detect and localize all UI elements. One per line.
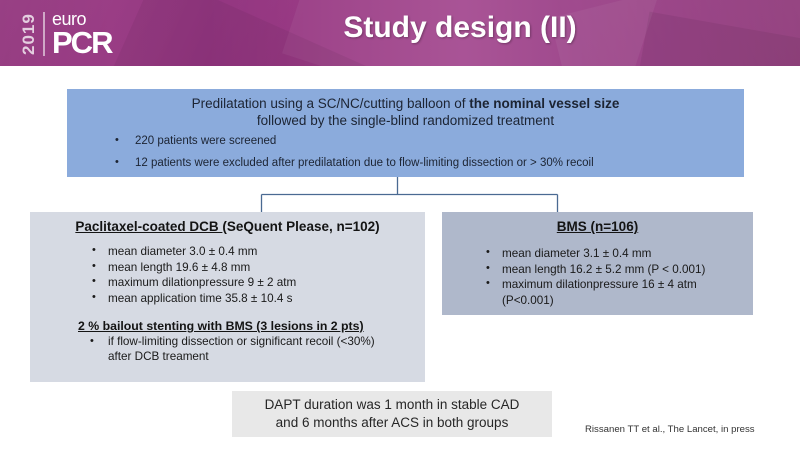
bms-arm-title: BMS (n=106): [442, 212, 753, 234]
dcb-bailout-bullet-line2: after DCB treament: [108, 350, 425, 365]
list-item: mean length 19.6 ± 4.8 mm: [90, 260, 425, 276]
dcb-arm-box: Paclitaxel-coated DCB (SeQuent Please, n…: [30, 212, 425, 382]
connector-path: [262, 177, 558, 212]
page-title: Study design (II): [140, 11, 780, 45]
predilatation-bullet-list: 220 patients were screened 12 patients w…: [67, 135, 744, 179]
dcb-bailout-bullet-list: if flow-limiting dissection or significa…: [72, 335, 425, 364]
dcb-arm-bullet-list: mean diameter 3.0 ± 0.4 mm mean length 1…: [30, 244, 425, 306]
logo-pcr-text: PCR: [52, 27, 111, 58]
dcb-arm-title-rest: (SeQuent Please, n=102): [222, 219, 379, 234]
dapt-line1: DAPT duration was 1 month in stable CAD: [265, 397, 520, 412]
list-item: 12 patients were excluded after predilat…: [113, 157, 744, 179]
list-item: maximum dilationpressure 9 ± 2 atm: [90, 275, 425, 291]
list-item: if flow-limiting dissection or significa…: [90, 335, 425, 364]
predilatation-headline-plain: Predilatation using a SC/NC/cutting ball…: [192, 96, 470, 111]
dcb-bailout-title: 2 % bailout stenting with BMS (3 lesions…: [72, 319, 425, 333]
bms-arm-box: BMS (n=106) mean diameter 3.1 ± 0.4 mm m…: [442, 212, 753, 315]
dapt-duration-box: DAPT duration was 1 month in stable CAD …: [232, 391, 552, 437]
list-item: mean application time 35.8 ± 10.4 s: [90, 291, 425, 307]
bms-arm-title-underlined: BMS (n=106): [557, 219, 638, 234]
logo-wordmark: euro PCR: [52, 10, 111, 58]
dcb-arm-title-underlined: Paclitaxel-coated DCB: [75, 219, 222, 234]
predilatation-headline-line2: followed by the single-blind randomized …: [257, 113, 554, 128]
list-item: 220 patients were screened: [113, 135, 744, 157]
logo-divider: [43, 12, 45, 56]
dcb-bailout-bullet-line1: if flow-limiting dissection or significa…: [108, 335, 375, 348]
dcb-arm-title: Paclitaxel-coated DCB (SeQuent Please, n…: [30, 212, 425, 234]
slide-canvas: 2019 euro PCR Study design (II) Predilat…: [0, 0, 800, 450]
predilatation-box: Predilatation using a SC/NC/cutting ball…: [67, 89, 744, 177]
predilatation-headline: Predilatation using a SC/NC/cutting ball…: [67, 89, 744, 129]
bms-bullet3-continuation: (P<0.001): [502, 293, 753, 309]
dapt-text: DAPT duration was 1 month in stable CAD …: [265, 396, 520, 432]
list-item: mean diameter 3.1 ± 0.4 mm: [484, 246, 753, 262]
dcb-bailout-section: 2 % bailout stenting with BMS (3 lesions…: [30, 319, 425, 364]
source-citation: Rissanen TT et al., The Lancet, in press: [585, 424, 755, 435]
list-item: mean diameter 3.0 ± 0.4 mm: [90, 244, 425, 260]
list-item: maximum dilationpressure 16 ± 4 atm (P<0…: [484, 277, 753, 308]
predilatation-headline-bold: the nominal vessel size: [469, 96, 619, 111]
dapt-line2: and 6 months after ACS in both groups: [276, 415, 509, 430]
europcr-logo: 2019 euro PCR: [20, 6, 140, 62]
bms-arm-bullet-list: mean diameter 3.1 ± 0.4 mm mean length 1…: [442, 246, 753, 308]
bms-bullet3-line1: maximum dilationpressure 16 ± 4 atm: [502, 278, 697, 291]
list-item: mean length 16.2 ± 5.2 mm (P < 0.001): [484, 262, 753, 278]
logo-year: 2019: [20, 11, 37, 57]
